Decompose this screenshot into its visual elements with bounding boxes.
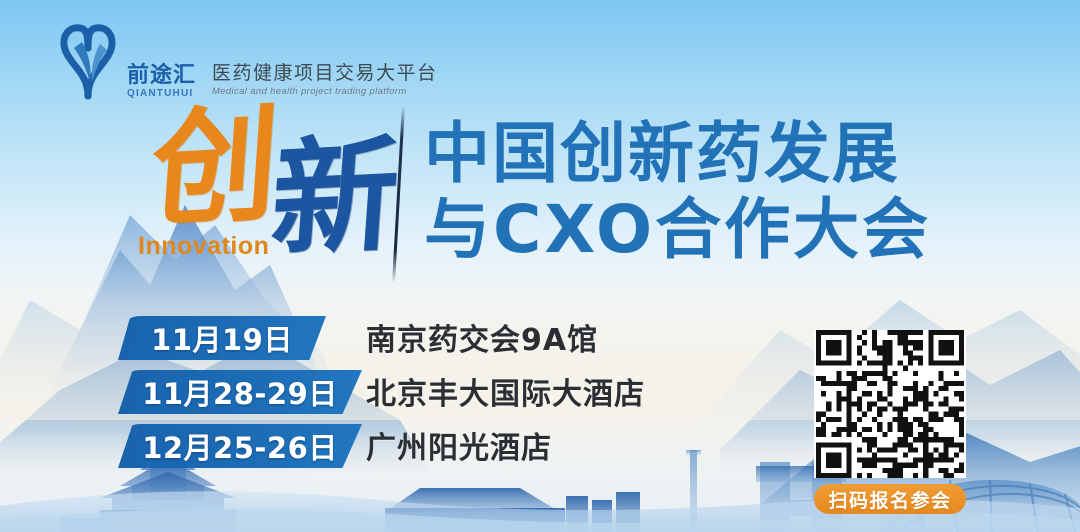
heart-leaf-logo-icon: [58, 22, 118, 100]
calligraphy-english-innovation: Innovation: [138, 232, 269, 261]
schedule-list: 11月19日 南京药交会9A馆 11月28-29日 北京丰大国际大酒店 12月2…: [0, 316, 700, 478]
schedule-date: 12月25-26日: [118, 424, 362, 468]
calligraphy-innovation: 创 新 Innovation: [150, 104, 400, 279]
calligraphy-char-chuang: 创: [147, 101, 282, 233]
schedule-row: 11月28-29日 北京丰大国际大酒店: [0, 370, 700, 422]
conference-poster: 前途汇 QIANTUHUI 医药健康项目交易大平台 Medical and he…: [0, 0, 1080, 532]
schedule-venue: 南京药交会9A馆: [366, 315, 598, 359]
schedule-date: 11月19日: [118, 316, 326, 360]
schedule-venue: 北京丰大国际大酒店: [366, 369, 645, 413]
brand-logo: 前途汇 QIANTUHUI 医药健康项目交易大平台 Medical and he…: [58, 22, 438, 100]
schedule-row: 12月25-26日 广州阳光酒店: [0, 424, 700, 476]
logo-name-cn: 前途汇: [127, 64, 196, 87]
title-line-1: 中国创新药发展: [424, 116, 931, 192]
title-line-2: 与CXO合作大会: [424, 192, 931, 268]
qr-label[interactable]: 扫码报名参会: [814, 484, 966, 514]
page-title: 中国创新药发展 与CXO合作大会: [424, 116, 931, 268]
registration-qr-code[interactable]: [814, 330, 966, 478]
calligraphy-char-xin: 新: [267, 131, 402, 263]
schedule-date: 11月28-29日: [118, 370, 362, 414]
logo-tagline-cn: 医药健康项目交易大平台: [212, 63, 438, 85]
registration-qr-block[interactable]: 扫码报名参会: [814, 330, 966, 514]
schedule-venue: 广州阳光酒店: [366, 423, 552, 467]
schedule-row: 11月19日 南京药交会9A馆: [0, 316, 700, 368]
